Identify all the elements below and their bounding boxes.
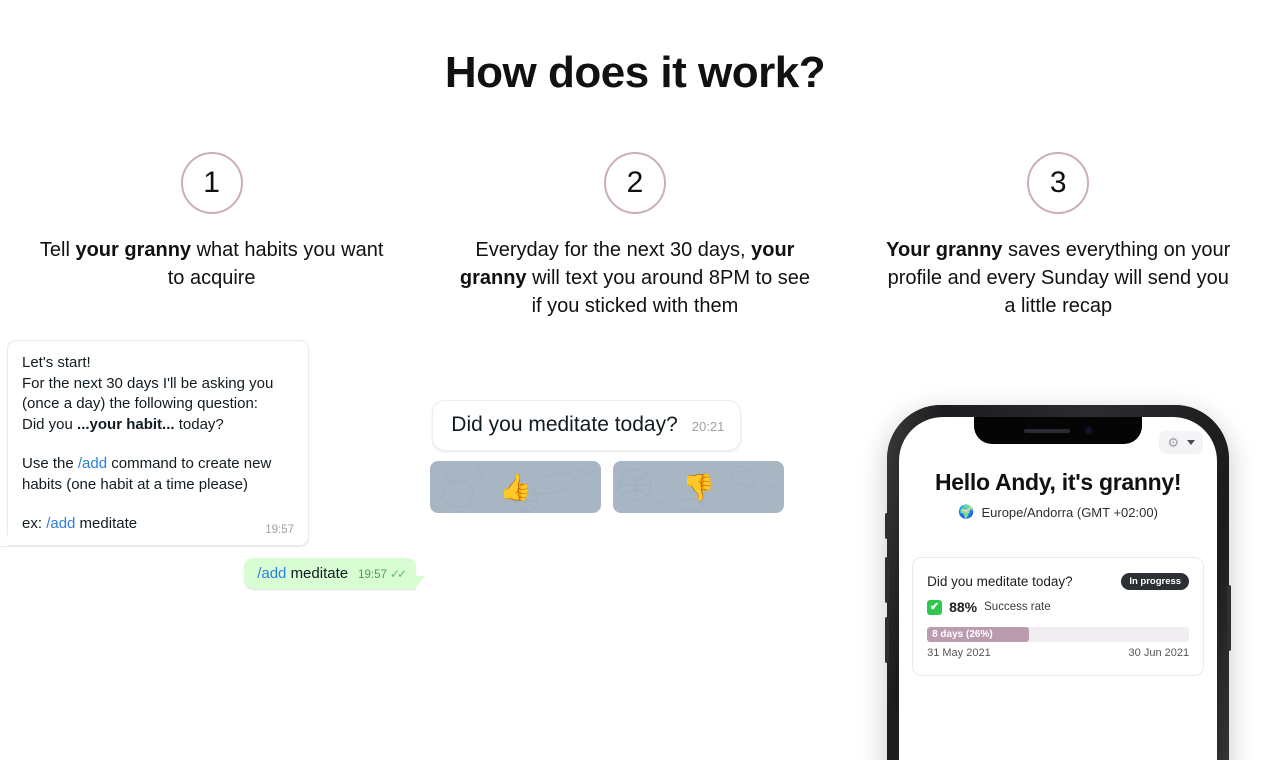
message-line-4-post: today?	[175, 416, 224, 433]
add-command-link-1[interactable]: /add	[78, 455, 107, 472]
message-line-4-bold: ...your habit...	[77, 416, 175, 433]
silent-switch[interactable]	[885, 513, 889, 539]
steps-container: 1 Tell your granny what habits you want …	[0, 152, 1270, 320]
step-heading-1-part-1: Tell	[40, 239, 76, 261]
chevron-down-icon	[1187, 440, 1195, 445]
start-date: 31 May 2021	[927, 647, 991, 659]
message-line-7: 19:57ex: /add meditate	[22, 514, 294, 535]
habit-card[interactable]: Did you meditate today? In progress ✔ 88…	[912, 557, 1204, 676]
outgoing-timestamp: 19:57	[358, 569, 387, 581]
page-title: How does it work?	[0, 48, 1270, 98]
phone-screen: ⚙ Hello Andy, it's granny! 🌍 Europe/Ando…	[899, 417, 1217, 760]
message-line-7-pre: ex:	[22, 515, 46, 532]
end-date: 30 Jun 2021	[1129, 647, 1190, 659]
reaction-buttons-row: 👍 👎	[430, 461, 847, 513]
outgoing-habit-name: meditate	[291, 565, 349, 582]
progress-bar-fill: 8 days (26%)	[927, 627, 1029, 642]
message-line-1: Let's start!	[22, 353, 294, 374]
step-heading-1-part-3: what habits you want to acquire	[168, 239, 384, 289]
success-percentage: 88%	[949, 599, 977, 615]
question-bubble: Did you meditate today? 20:21	[432, 400, 741, 451]
gear-icon: ⚙	[1167, 436, 1179, 449]
step-column-1: 1 Tell your granny what habits you want …	[0, 152, 423, 320]
question-text: Did you meditate today?	[451, 413, 677, 437]
step-number-2: 2	[604, 152, 666, 214]
message-line-5-post: command to create new	[107, 455, 271, 472]
check-icon: ✔	[927, 600, 942, 615]
message-line-4: Did you ...your habit... today?	[22, 415, 294, 436]
step-heading-1: Tell your granny what habits you want to…	[0, 236, 423, 292]
success-rate-row: ✔ 88% Success rate	[927, 599, 1189, 615]
step-number-3: 3	[1027, 152, 1089, 214]
message-line-2: For the next 30 days I'll be asking you	[22, 374, 294, 395]
incoming-timestamp: 19:57	[265, 520, 294, 541]
message-line-6: habits (one habit at a time please)	[22, 475, 294, 496]
date-range-row: 31 May 2021 30 Jun 2021	[927, 647, 1189, 659]
thumbs-down-emoji: 👎	[683, 474, 715, 500]
step-column-2: 2 Everyday for the next 30 days, your gr…	[423, 152, 846, 320]
step-heading-2-part-3: will text you around 8PM to see if you s…	[527, 267, 810, 317]
step-heading-2: Everyday for the next 30 days, your gran…	[423, 236, 846, 320]
globe-icon: 🌍	[958, 504, 974, 520]
outgoing-message-text: /add meditate	[257, 565, 348, 582]
read-receipt-icon: ✓✓	[390, 567, 404, 581]
incoming-message-bubble: Let's start! For the next 30 days I'll b…	[7, 340, 309, 546]
outgoing-command[interactable]: /add	[257, 565, 286, 582]
progress-bar: 8 days (26%)	[927, 627, 1189, 642]
thumbs-down-button[interactable]: 👎	[613, 461, 784, 513]
message-line-3: (once a day) the following question:	[22, 394, 294, 415]
volume-down-button[interactable]	[885, 617, 889, 663]
settings-menu-button[interactable]: ⚙	[1159, 431, 1203, 454]
message-line-7-post: meditate	[75, 515, 137, 532]
question-timestamp: 20:21	[692, 419, 725, 434]
page-root: How does it work? 1 Tell your granny wha…	[0, 0, 1270, 760]
message-line-5-pre: Use the	[22, 455, 78, 472]
step-number-1: 1	[181, 152, 243, 214]
outgoing-message-row: /add meditate 19:57✓✓	[4, 558, 424, 589]
timezone-row: 🌍 Europe/Andorra (GMT +02:00)	[899, 504, 1217, 520]
chat-thread-step2: Did you meditate today? 20:21	[427, 400, 847, 513]
chat-thread-step1: Let's start! For the next 30 days I'll b…	[4, 340, 424, 589]
message-line-5: Use the /add command to create new	[22, 454, 294, 475]
phone-mockup-wrapper: ⚙ Hello Andy, it's granny! 🌍 Europe/Ando…	[847, 405, 1270, 760]
success-rate-label: Success rate	[984, 601, 1050, 613]
thumbs-up-button[interactable]: 👍	[430, 461, 601, 513]
habit-card-header: Did you meditate today? In progress	[927, 573, 1189, 590]
phone-notch	[974, 417, 1142, 444]
thumbs-up-emoji: 👍	[500, 474, 532, 500]
greeting-title: Hello Andy, it's granny!	[899, 469, 1217, 496]
outgoing-timestamp-group: 19:57✓✓	[358, 567, 404, 582]
outgoing-message-bubble: /add meditate 19:57✓✓	[244, 558, 416, 589]
earpiece-speaker-icon	[1024, 429, 1070, 433]
status-badge: In progress	[1121, 573, 1189, 590]
habit-question: Did you meditate today?	[927, 574, 1073, 589]
paragraph-gap-2	[22, 495, 294, 514]
phone-frame: ⚙ Hello Andy, it's granny! 🌍 Europe/Ando…	[887, 405, 1229, 760]
step-heading-1-part-2: your granny	[75, 239, 191, 261]
step-heading-3: Your granny saves everything on your pro…	[847, 236, 1270, 320]
step-column-3: 3 Your granny saves everything on your p…	[847, 152, 1270, 320]
front-camera-icon	[1084, 426, 1093, 435]
add-command-link-2[interactable]: /add	[46, 515, 75, 532]
timezone-label: Europe/Andorra (GMT +02:00)	[981, 505, 1157, 520]
paragraph-gap-1	[22, 435, 294, 454]
message-line-4-pre: Did you	[22, 416, 77, 433]
power-button[interactable]	[1227, 585, 1231, 651]
step-heading-2-part-1: Everyday for the next 30 days,	[475, 239, 751, 261]
step-heading-3-part-1: Your granny	[886, 239, 1002, 261]
volume-up-button[interactable]	[885, 557, 889, 603]
